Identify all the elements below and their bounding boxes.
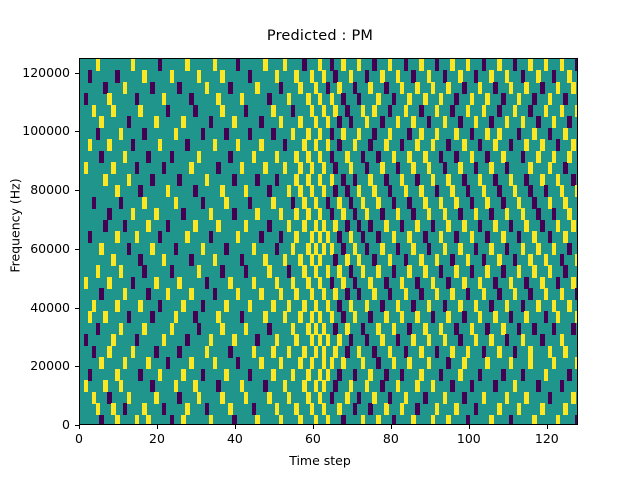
heatmap-cell — [540, 403, 544, 415]
heatmap-cell — [322, 220, 326, 232]
heatmap-cell — [372, 59, 376, 71]
heatmap-cell — [185, 139, 189, 151]
heatmap-cell — [232, 174, 236, 186]
heatmap-cell — [107, 346, 111, 358]
heatmap-cell — [521, 151, 525, 163]
heatmap-cell — [392, 231, 396, 243]
heatmap-cell — [146, 151, 150, 163]
heatmap-cell — [489, 300, 493, 312]
heatmap-cell — [185, 334, 189, 346]
heatmap-cell — [330, 59, 334, 71]
heatmap-cell — [372, 185, 376, 197]
heatmap-cell — [123, 288, 127, 300]
heatmap-cell — [99, 151, 103, 163]
heatmap-cell — [353, 369, 357, 381]
heatmap-cell — [314, 300, 318, 312]
heatmap-cell — [376, 323, 380, 335]
heatmap-cell — [446, 277, 450, 289]
heatmap-cell — [431, 220, 435, 232]
heatmap-cell — [170, 323, 174, 335]
heatmap-cell — [174, 128, 178, 140]
heatmap-cell — [575, 357, 578, 369]
heatmap-cell — [248, 369, 252, 381]
heatmap-cell — [271, 105, 275, 117]
heatmap-cell — [513, 380, 517, 392]
heatmap-cell — [197, 392, 201, 404]
heatmap-cell — [462, 139, 466, 151]
heatmap-cell — [111, 334, 115, 346]
heatmap-cell — [255, 415, 259, 425]
heatmap-cell — [474, 162, 478, 174]
heatmap-cell — [524, 311, 528, 323]
heatmap-cell — [407, 323, 411, 335]
heatmap-cell — [279, 82, 283, 94]
heatmap-cell — [103, 174, 107, 186]
heatmap-cell — [318, 392, 322, 404]
heatmap-cell — [497, 185, 501, 197]
heatmap-cell — [310, 403, 314, 415]
heatmap-cell — [263, 311, 267, 323]
heatmap-cell — [482, 346, 486, 358]
heatmap-cell — [314, 346, 318, 358]
heatmap-cell — [228, 403, 232, 415]
heatmap-cell — [521, 334, 525, 346]
heatmap-cell — [84, 93, 88, 105]
heatmap-cell — [298, 82, 302, 94]
heatmap-cell — [236, 139, 240, 151]
heatmap-cell — [337, 300, 341, 312]
y-tick-label: 120000 — [8, 66, 70, 80]
heatmap-cell — [131, 59, 135, 71]
heatmap-cell — [439, 369, 443, 381]
y-tick-mark — [75, 249, 79, 250]
heatmap-cell — [291, 277, 295, 289]
y-tick-mark — [75, 366, 79, 367]
heatmap-cell — [524, 139, 528, 151]
heatmap-cell — [224, 243, 228, 255]
heatmap-cell — [509, 174, 513, 186]
heatmap-cell — [330, 277, 334, 289]
heatmap-cell — [478, 220, 482, 232]
heatmap-cell — [166, 357, 170, 369]
heatmap-cell — [388, 346, 392, 358]
heatmap-cell — [185, 59, 189, 71]
heatmap-cell — [524, 392, 528, 404]
heatmap-cell — [314, 139, 318, 151]
heatmap-cell — [135, 415, 139, 425]
heatmap-cell — [485, 357, 489, 369]
heatmap-cell — [166, 288, 170, 300]
x-tick-label: 20 — [127, 431, 187, 446]
heatmap-cell — [361, 357, 365, 369]
heatmap-cell — [119, 323, 123, 335]
heatmap-cell — [341, 93, 345, 105]
heatmap-cell — [415, 277, 419, 289]
heatmap-cell — [384, 139, 388, 151]
heatmap-cell — [189, 162, 193, 174]
heatmap-cell — [337, 403, 341, 415]
heatmap-cell — [411, 243, 415, 255]
heatmap-cell — [213, 357, 217, 369]
heatmap-cell — [392, 357, 396, 369]
heatmap-cell — [575, 254, 578, 266]
heatmap-cell — [560, 334, 564, 346]
heatmap-cell — [404, 346, 408, 358]
heatmap-cell — [306, 208, 310, 220]
heatmap-cell — [400, 174, 404, 186]
heatmap-cell — [392, 323, 396, 335]
heatmap-cell — [400, 311, 404, 323]
heatmap-cell — [333, 346, 337, 358]
heatmap-cell — [536, 380, 540, 392]
heatmap-cell — [415, 139, 419, 151]
heatmap-cell — [540, 82, 544, 94]
heatmap-cell — [563, 403, 567, 415]
heatmap-cell — [489, 70, 493, 82]
heatmap-cell — [474, 70, 478, 82]
heatmap-cell — [556, 277, 560, 289]
heatmap-cell — [400, 139, 404, 151]
heatmap-cell — [213, 59, 217, 71]
heatmap-cell — [255, 174, 259, 186]
heatmap-cell — [216, 162, 220, 174]
heatmap-cell — [524, 220, 528, 232]
heatmap-cell — [138, 185, 142, 197]
x-axis-label: Time step — [0, 453, 640, 468]
heatmap-cell — [283, 254, 287, 266]
heatmap-cell — [521, 300, 525, 312]
heatmap-cell — [220, 70, 224, 82]
heatmap-cell — [345, 151, 349, 163]
heatmap-cell — [431, 380, 435, 392]
heatmap-cell — [88, 139, 92, 151]
heatmap-cell — [283, 139, 287, 151]
heatmap-cell — [524, 174, 528, 186]
heatmap-cell — [318, 208, 322, 220]
heatmap-cell — [337, 82, 341, 94]
heatmap-cell — [548, 197, 552, 209]
heatmap-cell — [333, 162, 337, 174]
heatmap-cell — [205, 277, 209, 289]
heatmap-cell — [252, 403, 256, 415]
heatmap-cell — [419, 59, 423, 71]
heatmap-cell — [283, 162, 287, 174]
heatmap-cell — [376, 415, 380, 425]
heatmap-cell — [517, 231, 521, 243]
heatmap-cell — [135, 231, 139, 243]
heatmap-cell — [384, 277, 388, 289]
heatmap-cell — [376, 231, 380, 243]
heatmap-cell — [205, 174, 209, 186]
heatmap-cell — [252, 243, 256, 255]
heatmap-cell — [474, 300, 478, 312]
heatmap-cell — [548, 93, 552, 105]
heatmap-cell — [575, 59, 578, 71]
heatmap-cell — [407, 151, 411, 163]
heatmap-cell — [244, 323, 248, 335]
heatmap-cell — [333, 70, 337, 82]
heatmap-cell — [407, 265, 411, 277]
heatmap-cell — [209, 116, 213, 128]
heatmap-cell — [556, 82, 560, 94]
heatmap-cell — [396, 380, 400, 392]
heatmap-grid — [80, 59, 577, 424]
heatmap-cell — [318, 151, 322, 163]
heatmap-cell — [450, 288, 454, 300]
heatmap-cell — [462, 311, 466, 323]
heatmap-cell — [131, 277, 135, 289]
heatmap-cell — [435, 403, 439, 415]
heatmap-cell — [544, 59, 548, 71]
heatmap-cell — [478, 277, 482, 289]
heatmap-cell — [470, 231, 474, 243]
heatmap-cell — [193, 185, 197, 197]
heatmap-cell — [189, 288, 193, 300]
heatmap-cell — [544, 254, 548, 266]
heatmap-cell — [107, 139, 111, 151]
heatmap-cell — [111, 403, 115, 415]
heatmap-cell — [96, 265, 100, 277]
heatmap-cell — [466, 185, 470, 197]
heatmap-cell — [361, 105, 365, 117]
heatmap-cell — [470, 128, 474, 140]
x-tick-label: 40 — [205, 431, 265, 446]
heatmap-cell — [365, 208, 369, 220]
heatmap-cell — [365, 334, 369, 346]
heatmap-cell — [462, 82, 466, 94]
heatmap-cell — [357, 185, 361, 197]
heatmap-cell — [384, 311, 388, 323]
heatmap-cell — [517, 197, 521, 209]
heatmap-cell — [423, 231, 427, 243]
heatmap-cell — [322, 105, 326, 117]
heatmap-cell — [115, 300, 119, 312]
heatmap-cell — [197, 323, 201, 335]
heatmap-cell — [166, 185, 170, 197]
heatmap-cell — [310, 185, 314, 197]
heatmap-cell — [536, 243, 540, 255]
y-tick-mark — [75, 425, 79, 426]
heatmap-cell — [326, 265, 330, 277]
heatmap-cell — [337, 197, 341, 209]
heatmap-cell — [216, 311, 220, 323]
heatmap-cell — [532, 93, 536, 105]
heatmap-cell — [454, 231, 458, 243]
heatmap-cell — [372, 128, 376, 140]
heatmap-cell — [330, 392, 334, 404]
heatmap-cell — [544, 311, 548, 323]
heatmap-cell — [552, 300, 556, 312]
heatmap-cell — [361, 265, 365, 277]
heatmap-cell — [345, 346, 349, 358]
heatmap-cell — [236, 357, 240, 369]
heatmap-cell — [450, 59, 454, 71]
heatmap-cell — [505, 116, 509, 128]
heatmap-cell — [228, 277, 232, 289]
heatmap-cell — [544, 105, 548, 117]
heatmap-cell — [509, 277, 513, 289]
heatmap-cell — [528, 162, 532, 174]
heatmap-cell — [470, 380, 474, 392]
heatmap-cell — [513, 185, 517, 197]
heatmap-cell — [275, 174, 279, 186]
heatmap-cell — [127, 174, 131, 186]
heatmap-cell — [470, 323, 474, 335]
heatmap-cell — [255, 334, 259, 346]
heatmap-cell — [497, 254, 501, 266]
heatmap-cell — [454, 151, 458, 163]
heatmap-cell — [271, 346, 275, 358]
heatmap-cell — [470, 93, 474, 105]
heatmap-cell — [322, 357, 326, 369]
heatmap-cell — [575, 288, 578, 300]
heatmap-cell — [485, 197, 489, 209]
heatmap-cell — [209, 231, 213, 243]
heatmap-cell — [521, 243, 525, 255]
heatmap-cell — [193, 220, 197, 232]
heatmap-cell — [431, 311, 435, 323]
heatmap-cell — [322, 346, 326, 358]
heatmap-cell — [513, 254, 517, 266]
heatmap-cell — [349, 70, 353, 82]
heatmap-cell — [99, 243, 103, 255]
heatmap-cell — [567, 151, 571, 163]
heatmap-cell — [544, 288, 548, 300]
heatmap-cell — [443, 334, 447, 346]
heatmap-cell — [330, 357, 334, 369]
heatmap-cell — [322, 243, 326, 255]
heatmap-cell — [349, 265, 353, 277]
heatmap-cell — [294, 288, 298, 300]
heatmap-cell — [458, 116, 462, 128]
heatmap-cell — [571, 277, 575, 289]
heatmap-cell — [337, 369, 341, 381]
heatmap-cell — [497, 288, 501, 300]
heatmap-cell — [135, 334, 139, 346]
heatmap-cell — [454, 403, 458, 415]
heatmap-cell — [119, 265, 123, 277]
heatmap-cell — [310, 70, 314, 82]
heatmap-cell — [326, 82, 330, 94]
heatmap-cell — [298, 185, 302, 197]
heatmap-cell — [493, 380, 497, 392]
heatmap-cell — [330, 208, 334, 220]
heatmap-cell — [213, 288, 217, 300]
heatmap-cell — [474, 403, 478, 415]
heatmap-cell — [181, 369, 185, 381]
y-tick-mark — [75, 190, 79, 191]
heatmap-cell — [532, 128, 536, 140]
heatmap-cell — [505, 70, 509, 82]
heatmap-cell — [240, 254, 244, 266]
heatmap-cell — [443, 243, 447, 255]
heatmap-cell — [501, 93, 505, 105]
x-tick-mark — [469, 425, 470, 429]
heatmap-cell — [423, 197, 427, 209]
y-tick-label: 0 — [8, 418, 70, 432]
heatmap-cell — [341, 174, 345, 186]
heatmap-cell — [131, 346, 135, 358]
heatmap-cell — [446, 311, 450, 323]
heatmap-cell — [205, 82, 209, 94]
heatmap-cell — [376, 151, 380, 163]
heatmap-cell — [489, 116, 493, 128]
heatmap-cell — [252, 346, 256, 358]
x-tick-mark — [235, 425, 236, 429]
heatmap-cell — [306, 392, 310, 404]
heatmap-cell — [220, 323, 224, 335]
heatmap-cell — [454, 323, 458, 335]
x-tick-mark — [391, 425, 392, 429]
heatmap-cell — [489, 208, 493, 220]
heatmap-cell — [271, 128, 275, 140]
heatmap-cell — [396, 70, 400, 82]
heatmap-cell — [341, 59, 345, 71]
heatmap-cell — [439, 197, 443, 209]
heatmap-cell — [185, 403, 189, 415]
heatmap-cell — [415, 403, 419, 415]
heatmap-cell — [111, 105, 115, 117]
heatmap-cell — [474, 116, 478, 128]
heatmap-cell — [345, 288, 349, 300]
heatmap-cell — [470, 151, 474, 163]
heatmap-cell — [478, 311, 482, 323]
heatmap-cell — [142, 265, 146, 277]
heatmap-cell — [505, 334, 509, 346]
heatmap-cell — [193, 311, 197, 323]
heatmap-cell — [427, 162, 431, 174]
heatmap-cell — [361, 197, 365, 209]
heatmap-cell — [115, 231, 119, 243]
heatmap-cell — [197, 151, 201, 163]
heatmap-cell — [306, 243, 310, 255]
heatmap-cell — [259, 231, 263, 243]
heatmap-cell — [372, 254, 376, 266]
heatmap-cell — [88, 311, 92, 323]
heatmap-cell — [388, 105, 392, 117]
heatmap-cell — [271, 197, 275, 209]
heatmap-cell — [357, 220, 361, 232]
y-tick-label: 20000 — [8, 359, 70, 373]
heatmap-cell — [532, 197, 536, 209]
heatmap-cell — [384, 82, 388, 94]
heatmap-cell — [368, 139, 372, 151]
heatmap-cell — [466, 59, 470, 71]
heatmap-cell — [174, 197, 178, 209]
heatmap-cell — [318, 231, 322, 243]
x-tick-mark — [313, 425, 314, 429]
heatmap-cell — [380, 70, 384, 82]
heatmap-cell — [345, 220, 349, 232]
heatmap-cell — [298, 311, 302, 323]
heatmap-cell — [267, 185, 271, 197]
heatmap-cell — [326, 116, 330, 128]
heatmap-cell — [435, 128, 439, 140]
heatmap-cell — [333, 380, 337, 392]
heatmap-cell — [337, 139, 341, 151]
heatmap-cell — [181, 415, 185, 425]
heatmap-cell — [357, 392, 361, 404]
heatmap-cell — [314, 82, 318, 94]
heatmap-cell — [443, 208, 447, 220]
heatmap-cell — [294, 334, 298, 346]
heatmap-cell — [493, 139, 497, 151]
heatmap-cell — [341, 415, 345, 425]
heatmap-cell — [111, 162, 115, 174]
heatmap-cell — [310, 231, 314, 243]
heatmap-cell — [232, 208, 236, 220]
heatmap-cell — [96, 323, 100, 335]
